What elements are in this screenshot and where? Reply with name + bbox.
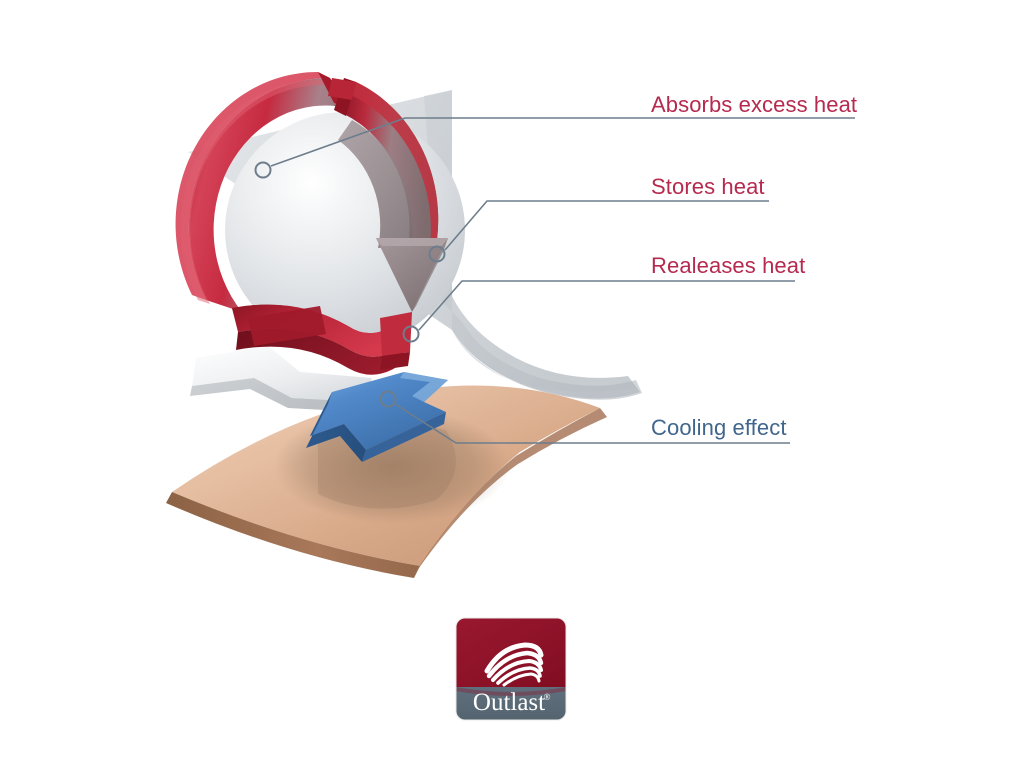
logo-trademark-icon: ® xyxy=(544,692,551,702)
illustration-group xyxy=(166,72,642,578)
diagram-canvas: Absorbs excess heat Stores heat Realease… xyxy=(0,0,1024,768)
callout-label-releases: Realeases heat xyxy=(651,253,805,279)
outlast-logo: Outlast ® xyxy=(455,617,567,721)
callout-label-stores: Stores heat xyxy=(651,174,765,200)
callout-label-absorbs: Absorbs excess heat xyxy=(651,92,857,118)
callout-label-cooling: Cooling effect xyxy=(651,415,787,441)
logo-wordmark: Outlast xyxy=(473,689,545,716)
